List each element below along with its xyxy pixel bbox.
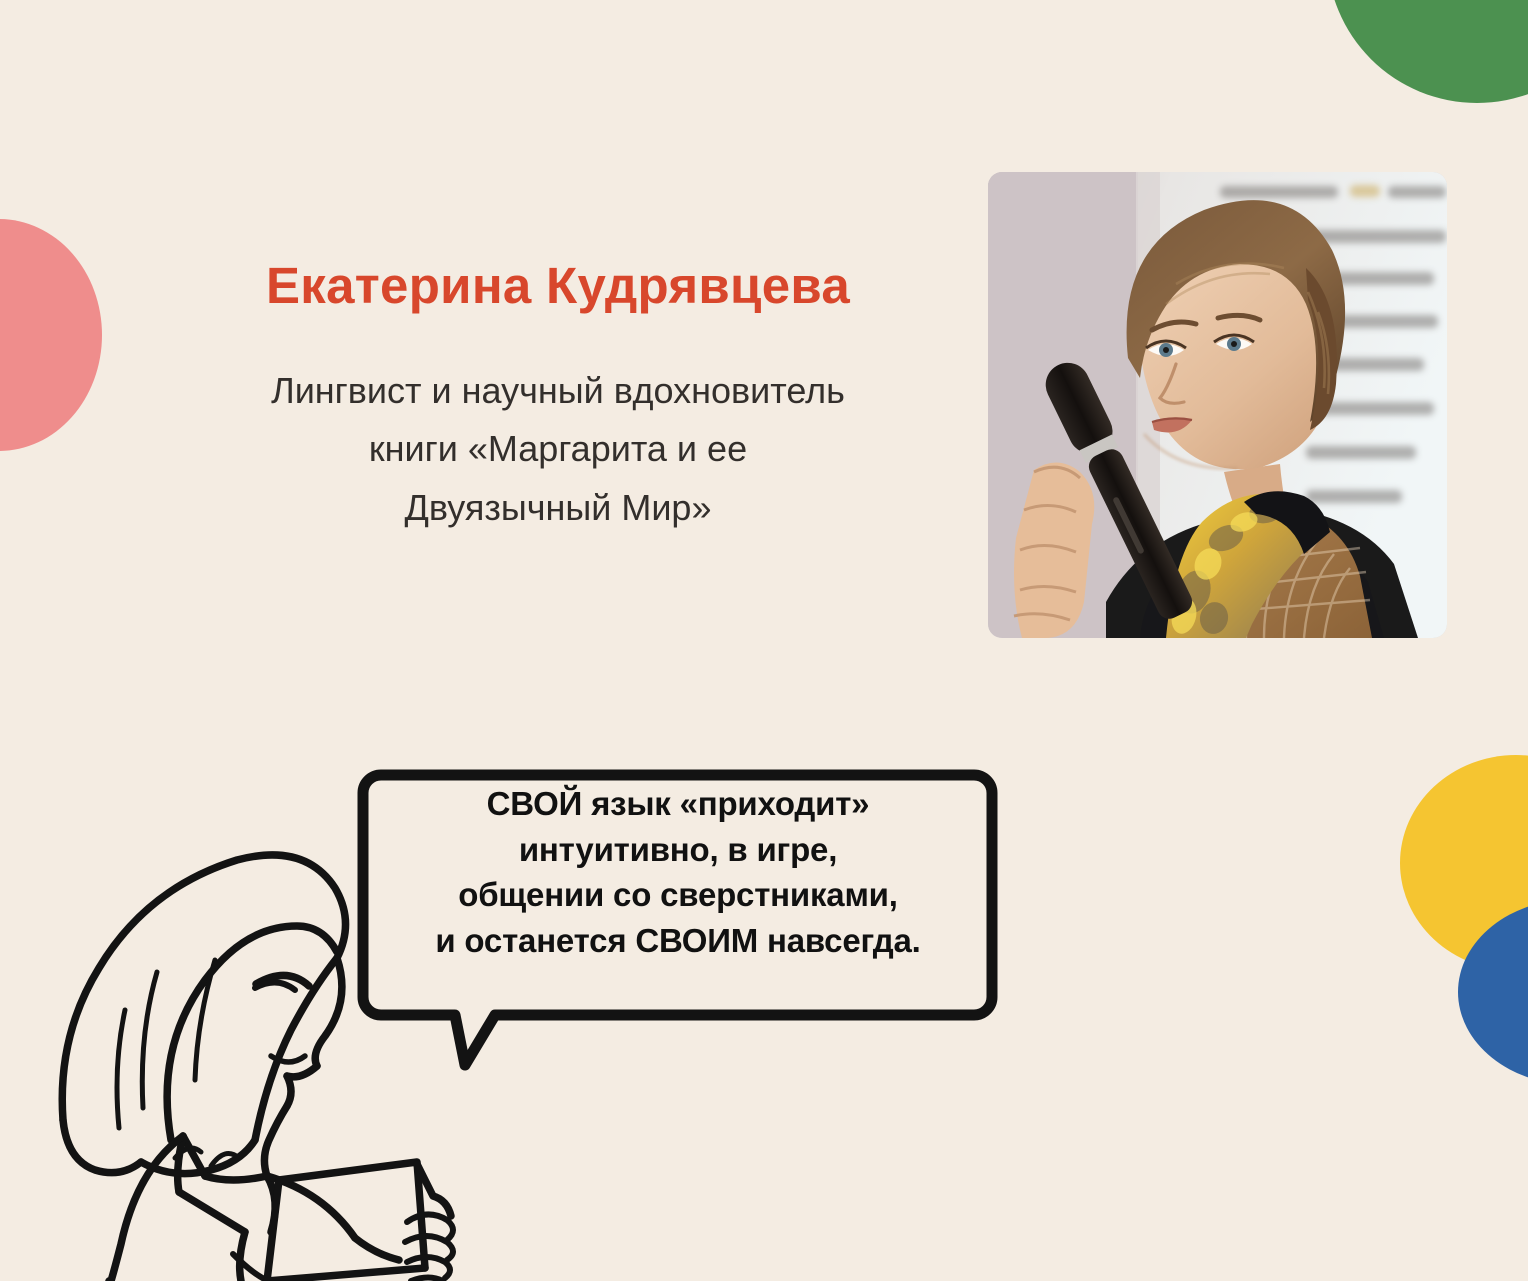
speaker-description-line-1: Лингвист и научный вдохновитель: [172, 362, 944, 420]
pink-circle-decoration: [0, 219, 102, 451]
speaker-text-block: Екатерина Кудрявцева Лингвист и научный …: [172, 258, 944, 537]
quote-line-2: интуитивно, в игре,: [373, 827, 983, 873]
green-circle-decoration: [1327, 0, 1528, 103]
speaker-description: Лингвист и научный вдохновитель книги «М…: [172, 362, 944, 537]
quote-line-1: СВОЙ язык «приходит»: [373, 781, 983, 827]
speaker-description-line-2: книги «Маргарита и ее: [172, 420, 944, 478]
quote-line-4: и останется СВОИМ навсегда.: [373, 918, 983, 964]
quote-line-3: общении со сверстниками,: [373, 872, 983, 918]
quote-text: СВОЙ язык «приходит» интуитивно, в игре,…: [373, 781, 983, 963]
speaker-photo: [988, 172, 1447, 638]
speaker-name: Екатерина Кудрявцева: [172, 258, 944, 314]
speaker-description-line-3: Двуязычный Мир»: [172, 479, 944, 537]
slide-canvas: Екатерина Кудрявцева Лингвист и научный …: [0, 0, 1528, 1281]
quote-speech-bubble: СВОЙ язык «приходит» интуитивно, в игре,…: [355, 755, 1000, 1075]
